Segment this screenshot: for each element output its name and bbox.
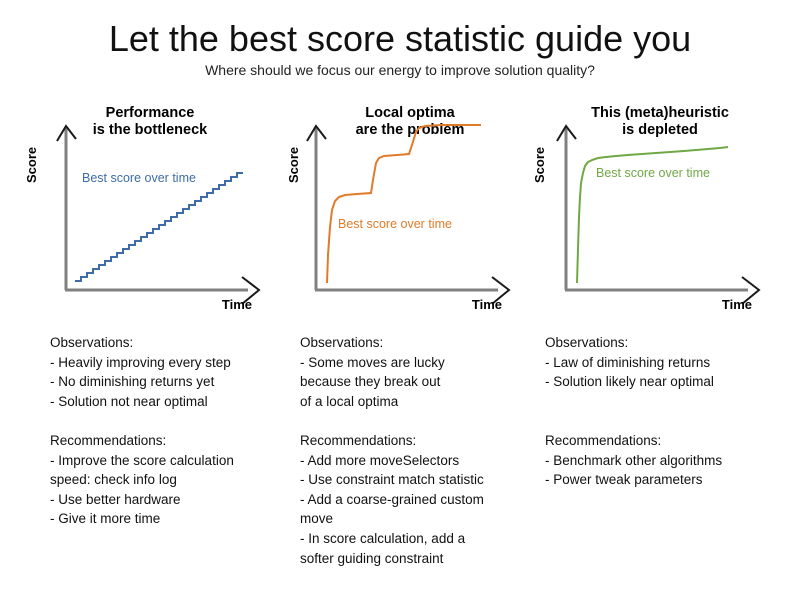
recommendation-item: softer guiding constraint	[300, 549, 545, 569]
recommendations-heading: Recommendations:	[300, 431, 545, 451]
series-label-best-score: Best score over time	[338, 217, 452, 231]
recommendations-heading: Recommendations:	[50, 431, 295, 451]
notes-column-local-optima: Observations: - Some moves are lucky bec…	[300, 333, 545, 568]
observation-item: - Some moves are lucky	[300, 353, 545, 373]
observation-item: of a local optima	[300, 392, 545, 412]
page-subtitle: Where should we focus our energy to impr…	[0, 62, 800, 78]
observation-item: - No diminishing returns yet	[50, 372, 295, 392]
x-axis-label: Time	[222, 297, 252, 312]
series-line-best-score	[75, 173, 243, 281]
x-axis-label: Time	[722, 297, 752, 312]
y-axis-label: Score	[532, 147, 547, 183]
series-label-best-score: Best score over time	[596, 166, 710, 180]
chart-panel-local-optima: Local optima are the problem Score Time …	[285, 105, 535, 330]
chart-panel-performance: Performance is the bottleneck Score Time…	[20, 105, 280, 330]
chart-svg-local-optima: Score Time Best score over time	[285, 105, 535, 330]
y-axis-label: Score	[24, 147, 39, 183]
series-line-best-score	[327, 125, 481, 283]
recommendation-item: - Improve the score calculation	[50, 451, 295, 471]
observations-heading: Observations:	[50, 333, 295, 353]
y-axis-label: Score	[286, 147, 301, 183]
observation-item: - Heavily improving every step	[50, 353, 295, 373]
recommendation-item: - In score calculation, add a	[300, 529, 545, 549]
recommendation-item: - Use better hardware	[50, 490, 295, 510]
recommendation-item: - Benchmark other algorithms	[545, 451, 790, 471]
chart-svg-depleted: Score Time Best score over time	[530, 105, 790, 330]
notes-column-performance: Observations: - Heavily improving every …	[50, 333, 295, 529]
paragraph-spacer	[50, 411, 295, 431]
recommendation-item: - Add more moveSelectors	[300, 451, 545, 471]
recommendation-item: - Give it more time	[50, 509, 295, 529]
chart-panel-depleted: This (meta)heuristic is depleted Score T…	[530, 105, 790, 330]
recommendation-item: - Use constraint match statistic	[300, 470, 545, 490]
observation-item: - Solution likely near optimal	[545, 372, 790, 392]
paragraph-spacer	[545, 392, 790, 412]
recommendation-item: - Add a coarse-grained custom	[300, 490, 545, 510]
observation-item: because they break out	[300, 372, 545, 392]
recommendation-item: - Power tweak parameters	[545, 470, 790, 490]
slide: Let the best score statistic guide you W…	[0, 0, 800, 600]
observation-item: - Solution not near optimal	[50, 392, 295, 412]
observations-heading: Observations:	[545, 333, 790, 353]
paragraph-spacer	[545, 411, 790, 431]
observation-item: - Law of diminishing returns	[545, 353, 790, 373]
recommendation-item: move	[300, 509, 545, 529]
recommendations-heading: Recommendations:	[545, 431, 790, 451]
recommendation-item: speed: check info log	[50, 470, 295, 490]
page-title: Let the best score statistic guide you	[0, 18, 800, 60]
notes-column-depleted: Observations: - Law of diminishing retur…	[545, 333, 790, 490]
chart-svg-performance: Score Time Best score over time	[20, 105, 280, 330]
paragraph-spacer	[300, 411, 545, 431]
observations-heading: Observations:	[300, 333, 545, 353]
x-axis-label: Time	[472, 297, 502, 312]
series-label-best-score: Best score over time	[82, 171, 196, 185]
